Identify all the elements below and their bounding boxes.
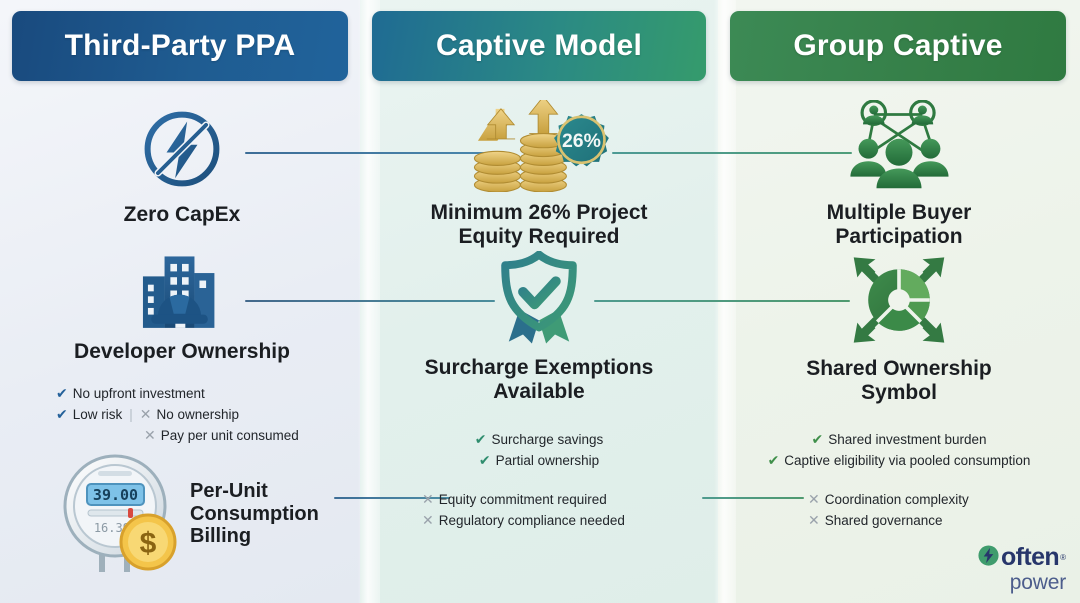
column-header-label: Captive Model: [436, 29, 642, 63]
cell-developer-ownership: Developer Ownership: [56, 253, 308, 364]
divider: |: [127, 404, 135, 425]
cross-icon: ✕: [144, 428, 156, 442]
check-icon: ✔: [811, 432, 823, 446]
list-item-con: ✕ Coordination complexity: [718, 489, 1080, 510]
brand-logo[interactable]: often ® power: [977, 544, 1066, 593]
list-item-label: No ownership: [157, 404, 240, 425]
list-item-pro: ✔ No upfront investment: [56, 383, 346, 404]
check-icon: ✔: [56, 407, 68, 421]
list-item-label: No upfront investment: [73, 383, 205, 404]
cross-icon: ✕: [808, 513, 820, 527]
list-item-con: ✕ Shared governance: [718, 510, 1080, 531]
column-header-third-party-ppa[interactable]: Third-Party PPA: [12, 11, 348, 81]
coin-stack-growth-icon: 26%: [406, 100, 672, 197]
developer-ownership-buildings-icon: [56, 253, 308, 338]
dollar-symbol: $: [140, 527, 157, 560]
list-item-label: Coordination complexity: [825, 489, 969, 510]
check-icon: ✔: [475, 432, 487, 446]
bullets-con-group-captive: ✕ Coordination complexity ✕ Shared gover…: [718, 489, 1080, 531]
list-item-pro: ✔ Partial ownership: [360, 450, 718, 471]
cell-caption: Multiple Buyer Participation: [775, 201, 1023, 249]
list-item-pro: ✔ Captive eligibility via pooled consump…: [718, 450, 1080, 471]
logo-trademark: ®: [1060, 554, 1066, 562]
list-item-label: Pay per unit consumed: [161, 425, 299, 446]
multiple-buyers-network-icon: [775, 100, 1023, 197]
cell-equity-requirement: 26% Minimum 26% Project Equity Required: [406, 100, 672, 249]
check-icon: ✔: [768, 453, 780, 467]
cell-per-unit-billing: 39.00 16.399 $ Per-Unit Consumption Bill…: [52, 450, 352, 578]
equity-badge-value: 26%: [562, 130, 601, 152]
cross-icon: ✕: [422, 513, 434, 527]
list-item-label: Surcharge savings: [491, 429, 603, 450]
zero-capex-bolt-icon: [66, 106, 298, 197]
cell-caption: Per-Unit Consumption Billing: [190, 480, 319, 548]
list-item-label: Shared governance: [825, 510, 943, 531]
cell-zero-capex: Zero CapEx: [66, 106, 298, 227]
logo-wordmark-row: often ®: [977, 544, 1066, 571]
list-item-con: ✕ Regulatory compliance needed: [360, 510, 718, 531]
column-header-group-captive[interactable]: Group Captive: [730, 11, 1066, 81]
list-item-pro-con-pair: ✔ Low risk | ✕ No ownership: [56, 404, 346, 425]
list-item-label: Shared investment burden: [828, 429, 986, 450]
column-header-captive-model[interactable]: Captive Model: [372, 11, 706, 81]
infographic-board: Third-Party PPA Captive Model Group Capt…: [0, 0, 1080, 603]
column-header-label: Group Captive: [793, 29, 1002, 63]
list-item-label: Equity commitment required: [439, 489, 607, 510]
cell-caption: Zero CapEx: [66, 203, 298, 227]
cross-icon: ✕: [808, 492, 820, 506]
check-icon: ✔: [479, 453, 491, 467]
list-item-pro: ✔ Shared investment burden: [718, 429, 1080, 450]
cell-caption: Minimum 26% Project Equity Required: [406, 201, 672, 249]
list-item-con: ✕ Pay per unit consumed: [56, 425, 346, 446]
cross-icon: ✕: [422, 492, 434, 506]
cross-icon: ✕: [140, 407, 152, 421]
logo-subtitle: power: [977, 572, 1066, 593]
shield-check-ribbon-icon: [416, 251, 662, 352]
cell-caption: Developer Ownership: [56, 340, 308, 364]
logo-name: often: [1001, 545, 1059, 570]
cell-caption: Shared Ownership Symbol: [775, 357, 1023, 405]
check-icon: ✔: [56, 386, 68, 400]
bullets-pro-captive-model: ✔ Surcharge savings ✔ Partial ownership: [360, 429, 718, 471]
bullets-con-captive-model: ✕ Equity commitment required ✕ Regulator…: [360, 489, 718, 531]
logo-bolt-circle-icon: [977, 544, 1000, 571]
meter-display-value: 39.00: [93, 486, 138, 504]
bullets-pro-group-captive: ✔ Shared investment burden ✔ Captive eli…: [718, 429, 1080, 471]
list-item-label: Captive eligibility via pooled consumpti…: [784, 450, 1030, 471]
list-item-label: Partial ownership: [496, 450, 600, 471]
shared-ownership-pie-arrows-icon: [775, 252, 1023, 353]
cell-surcharge-exemptions: Surcharge Exemptions Available: [416, 251, 662, 404]
bullets-third-party-ppa: ✔ No upfront investment ✔ Low risk | ✕ N…: [56, 383, 346, 446]
cell-shared-ownership: Shared Ownership Symbol: [775, 252, 1023, 405]
column-header-label: Third-Party PPA: [65, 29, 296, 63]
per-unit-meter-icon: 39.00 16.399 $: [52, 450, 182, 578]
cell-multiple-buyers: Multiple Buyer Participation: [775, 100, 1023, 249]
list-item-pro: ✔ Surcharge savings: [360, 429, 718, 450]
list-item-con: ✕ Equity commitment required: [360, 489, 718, 510]
list-item-label: Low risk: [73, 404, 123, 425]
list-item-label: Regulatory compliance needed: [439, 510, 625, 531]
cell-caption: Surcharge Exemptions Available: [416, 356, 662, 404]
